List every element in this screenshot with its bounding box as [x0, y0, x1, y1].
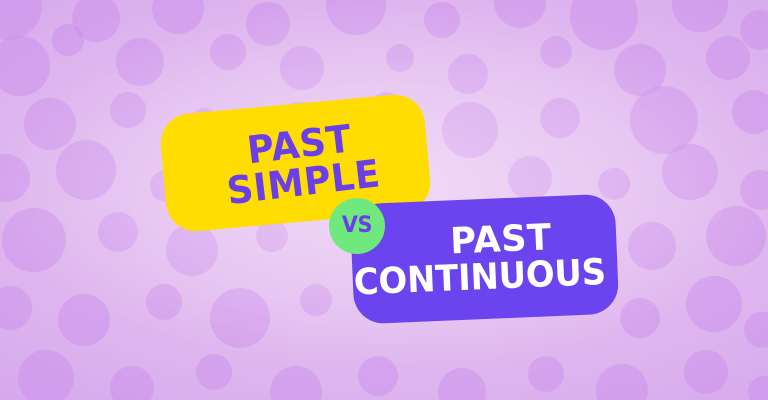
background-dot	[300, 284, 332, 316]
vs-label: VS	[342, 213, 372, 238]
background-dot	[706, 206, 766, 266]
background-dot	[210, 288, 270, 348]
background-dot	[442, 102, 498, 158]
background-dot	[740, 170, 768, 210]
background-dot	[0, 286, 32, 330]
background-dot	[358, 356, 398, 396]
background-dot	[0, 154, 30, 202]
past-continuous-line-1: PAST	[449, 220, 552, 259]
background-dot	[326, 0, 386, 35]
past-continuous-banner: PAST CONTINUOUS	[350, 194, 620, 325]
background-dot	[744, 312, 768, 348]
background-dot	[280, 46, 324, 90]
background-dot	[210, 34, 246, 70]
background-dot	[540, 98, 580, 138]
background-dot	[2, 208, 66, 272]
background-dot	[424, 2, 460, 38]
background-dot	[448, 54, 488, 94]
background-dot	[662, 144, 718, 200]
background-dot	[706, 36, 750, 80]
background-dot	[732, 90, 768, 134]
background-dot	[684, 350, 728, 394]
poster-canvas: PAST SIMPLE PAST CONTINUOUS VS	[0, 0, 768, 400]
background-dot	[494, 0, 546, 28]
background-dot	[196, 354, 232, 390]
background-dot	[508, 156, 552, 200]
background-dot	[628, 222, 676, 270]
background-dot	[386, 44, 414, 72]
background-dot	[630, 86, 698, 154]
background-dot	[58, 294, 110, 346]
background-dot	[18, 350, 74, 400]
background-dot	[686, 276, 742, 332]
background-dot	[110, 366, 154, 400]
background-dot	[146, 284, 182, 320]
background-dot	[246, 2, 290, 46]
past-continuous-text-group: PAST CONTINUOUS	[350, 194, 620, 325]
background-dot	[596, 364, 648, 400]
background-dot	[0, 0, 42, 40]
background-dot	[528, 356, 564, 392]
background-dot	[540, 36, 572, 68]
background-dot	[438, 368, 486, 400]
background-dot	[116, 38, 164, 86]
past-continuous-line-2: CONTINUOUS	[354, 255, 607, 301]
background-dot	[52, 24, 84, 56]
background-dot	[110, 92, 146, 128]
background-dot	[270, 366, 322, 400]
background-dot	[0, 36, 50, 96]
background-dot	[620, 298, 660, 338]
background-dot	[98, 212, 138, 252]
background-dot	[152, 0, 204, 34]
background-dot	[672, 0, 728, 32]
background-dot	[748, 376, 768, 400]
vs-badge: VS	[329, 198, 385, 254]
background-dot	[570, 0, 638, 50]
background-dot	[24, 98, 76, 150]
background-dot	[56, 140, 116, 200]
